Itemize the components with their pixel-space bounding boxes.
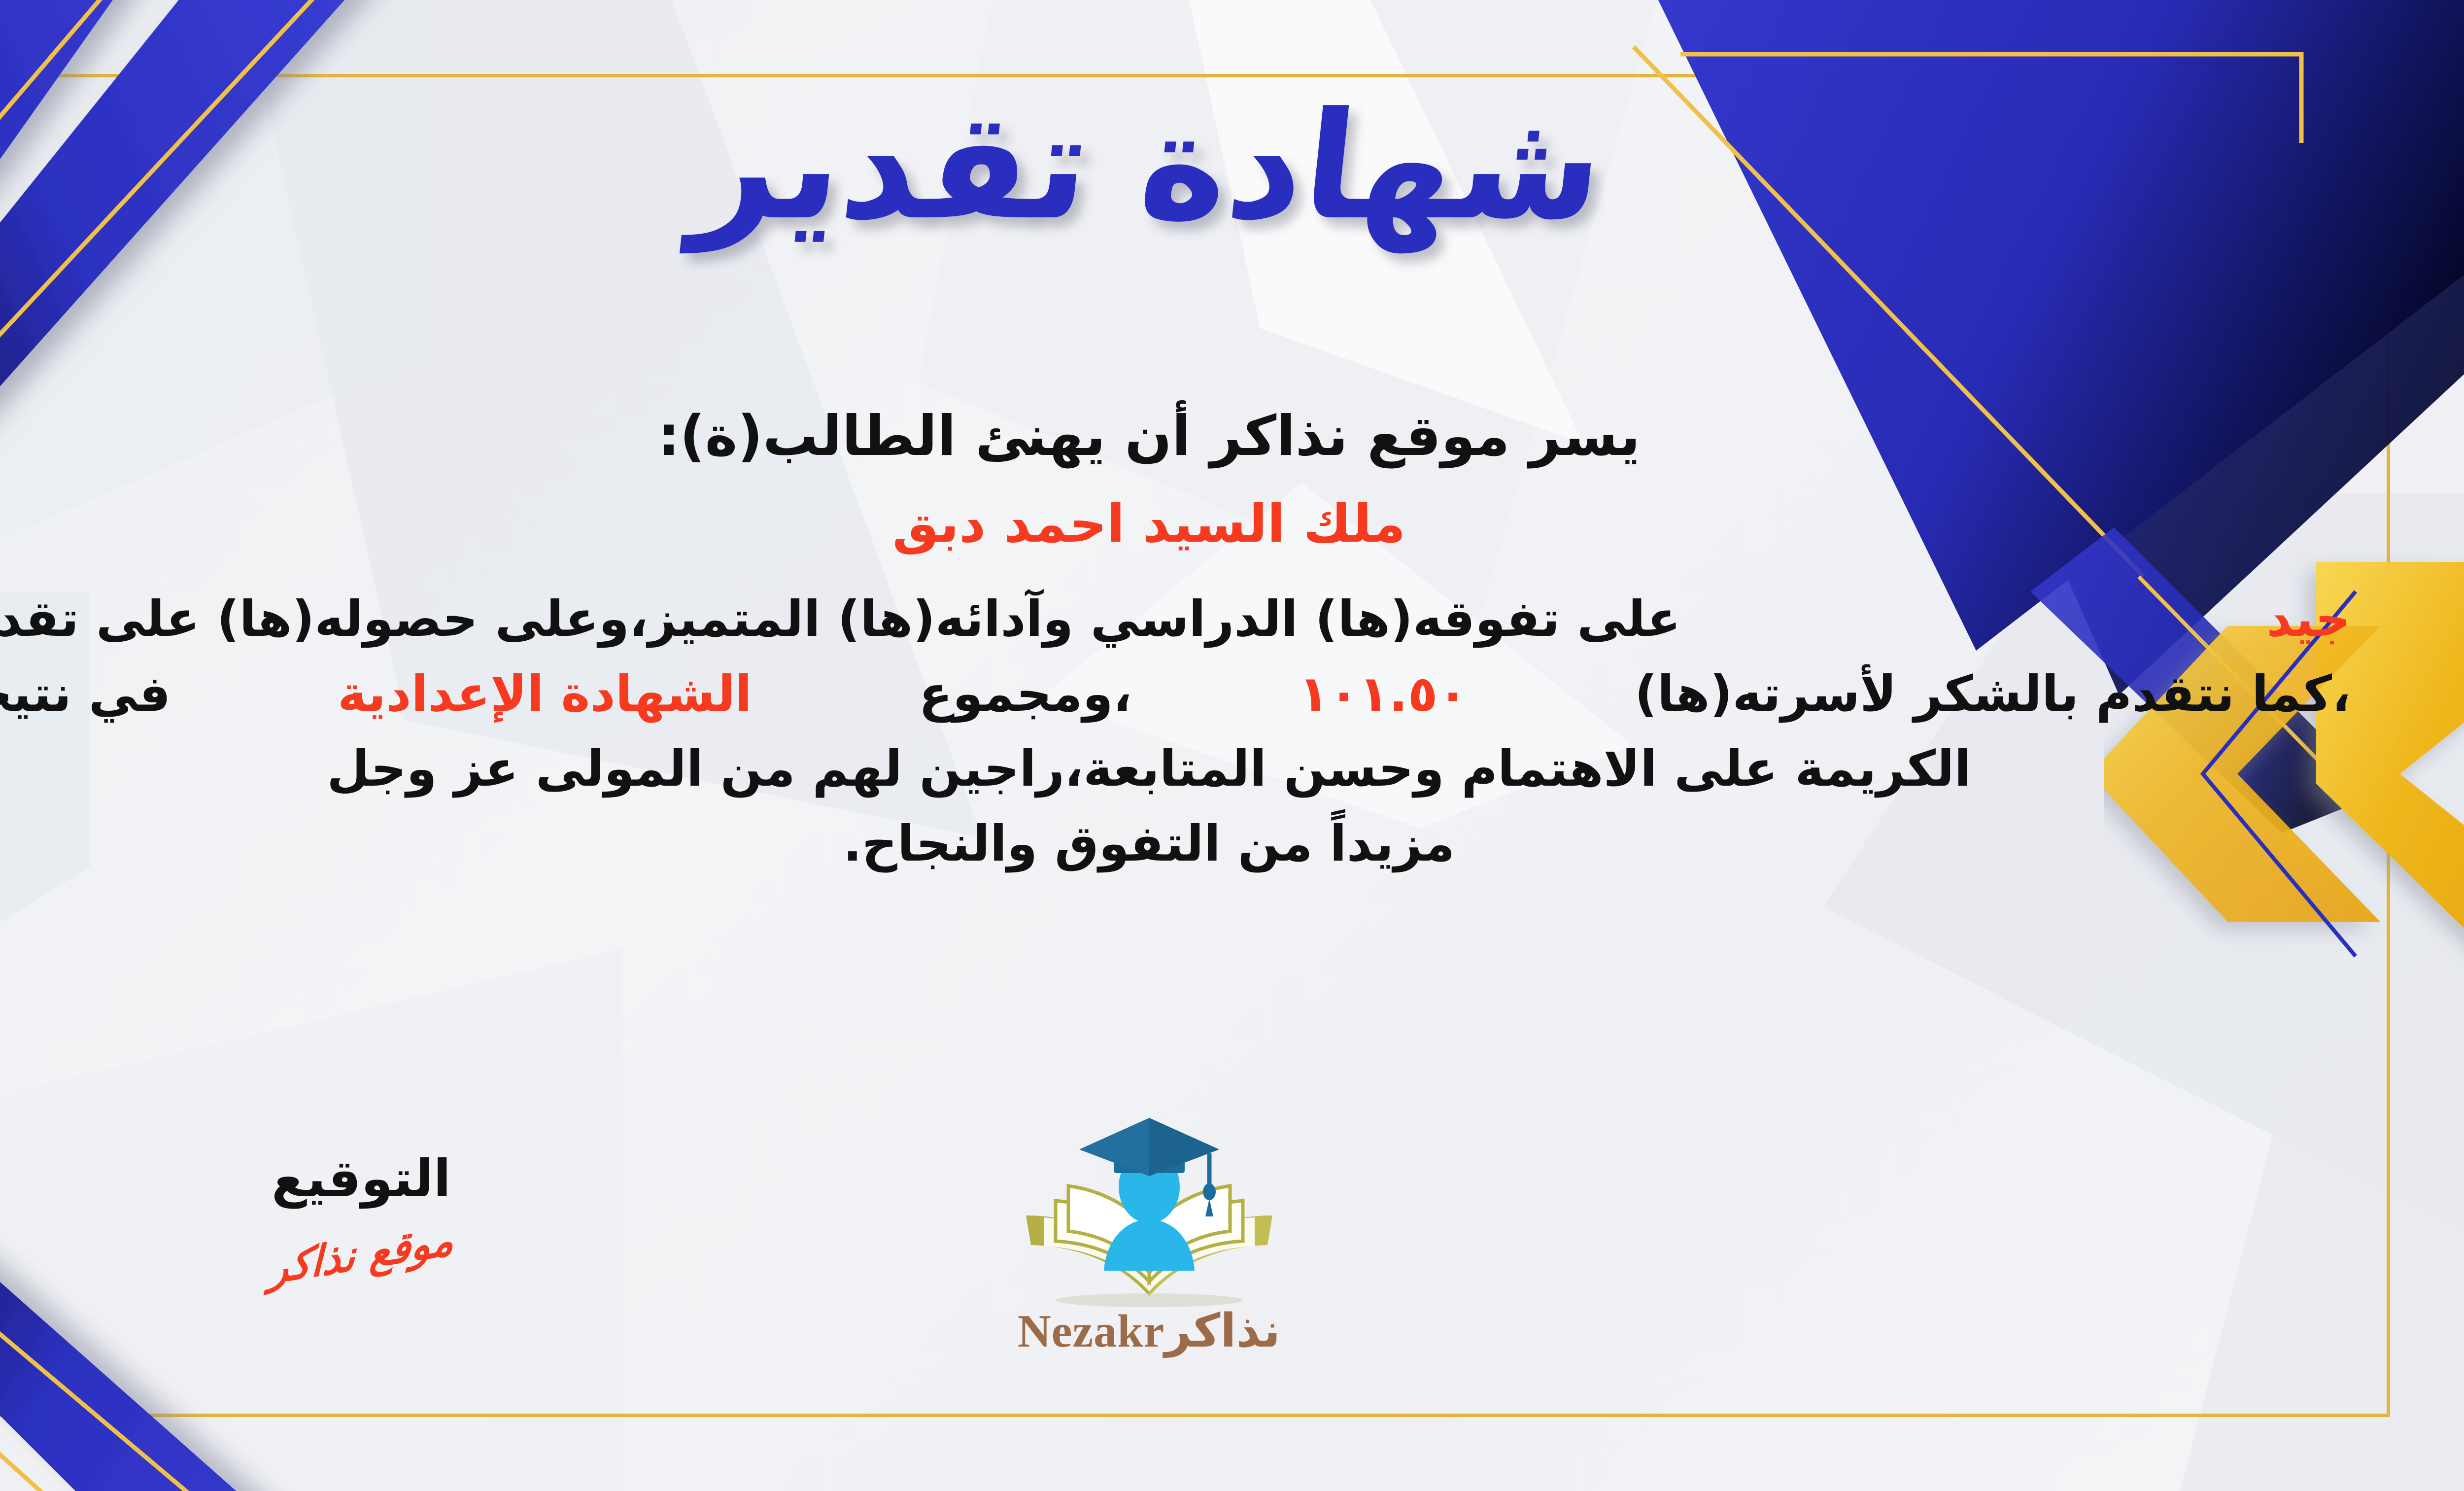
body-line-2-tail: ،كما نتقدم بالشكر لأسرته(ها) <box>1635 657 2351 731</box>
body-line-3: الكريمة على الاهتمام وحسن المتابعة،راجين… <box>0 731 2351 806</box>
body-paragraph: جيد على تفوقه(ها) الدراسي وآدائه(ها) الم… <box>0 582 2351 881</box>
site-logo: نذاكرNezakr <box>962 1114 1336 1358</box>
graduation-book-icon <box>996 1114 1302 1311</box>
grade-value: جيد <box>2266 582 2351 657</box>
intro-line: يسر موقع نذاكر أن يهنئ الطالب(ة): <box>0 399 2351 474</box>
certificate-body: يسر موقع نذاكر أن يهنئ الطالب(ة): ملك ال… <box>0 399 2351 881</box>
certificate-page: شهادة تقدير يسر موقع نذاكر أن يهنئ الطال… <box>0 0 2464 1491</box>
body-line-1-text: على تفوقه(ها) الدراسي وآدائه(ها) المتميز… <box>0 582 1680 657</box>
page-title: شهادة تقدير <box>687 89 1611 244</box>
logo-latin-name: Nezakr <box>1018 1306 1164 1357</box>
certificate-title-wrap: شهادة تقدير <box>0 89 2464 244</box>
body-line-2-mid: ،ومجموع <box>919 657 1132 731</box>
body-line-4: مزيداً من التفوق والنجاح. <box>0 806 2351 881</box>
certificate-type-value: الشهادة الإعدادية <box>338 657 752 731</box>
total-score-value: ١٠١.٥٠ <box>1299 657 1468 731</box>
body-line-2-head: في نتيجة <box>0 657 171 731</box>
logo-wordmark: نذاكرNezakr <box>962 1304 1336 1358</box>
body-line-2: ،كما نتقدم بالشكر لأسرته(ها) ١٠١.٥٠ ،ومج… <box>0 657 2351 731</box>
logo-arabic-name: نذاكر <box>1164 1304 1280 1358</box>
signature-area: التوقيع موقع نذاكر <box>208 1148 514 1279</box>
signature-label: التوقيع <box>208 1148 514 1209</box>
student-name: ملك السيد احمد دبق <box>0 493 2351 554</box>
body-line-1: جيد على تفوقه(ها) الدراسي وآدائه(ها) الم… <box>0 582 2351 657</box>
